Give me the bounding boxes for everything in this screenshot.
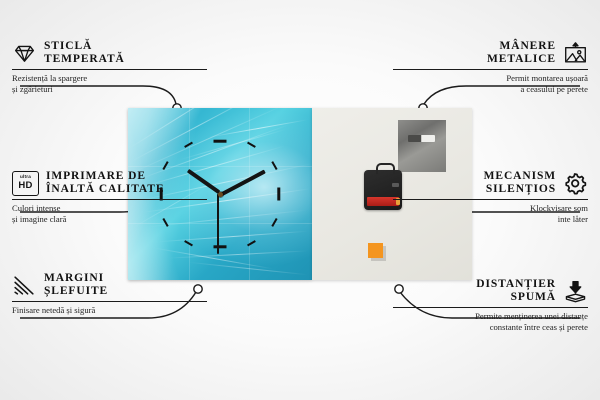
press-down-pad-icon	[563, 279, 588, 304]
metal-hanger-plate	[398, 120, 446, 172]
clock-tick-minor	[162, 161, 168, 170]
feature-foam-spacer: DISTANȚIER SPUMĂ Permite menținerea unei…	[393, 278, 588, 332]
divider	[393, 69, 588, 70]
clock-tick-major	[214, 140, 227, 143]
feature-desc-2: inte låter	[393, 214, 588, 225]
hanger-slot	[408, 135, 435, 142]
feature-title: MARGINI	[44, 272, 108, 285]
feature-desc-2: a ceasului pe perete	[393, 84, 588, 95]
clock-center-cap	[218, 192, 223, 197]
feature-title-2: TEMPERATĂ	[44, 53, 125, 66]
feature-desc: Permite menținerea unei distanțe	[393, 311, 588, 322]
feature-desc: Rezistență la spargere	[12, 73, 207, 84]
diamond-icon	[12, 41, 37, 66]
gear-icon	[563, 171, 588, 196]
clock-tick-minor	[247, 240, 256, 246]
clock-tick-minor	[184, 240, 193, 246]
clock-tick-minor	[247, 142, 256, 148]
clock-tick-minor	[272, 218, 278, 227]
feature-desc: Permit montarea ușoară	[393, 73, 588, 84]
feature-title-2: ȘLEFUITE	[44, 285, 108, 298]
divider	[12, 69, 207, 70]
feature-metal-hooks: MÂNERE METALICE Permit montarea ușoară a…	[393, 40, 588, 94]
clock-tick-major	[278, 188, 281, 201]
feature-desc: Culori intense	[12, 203, 207, 214]
feature-title-2: METALICE	[487, 53, 556, 66]
feature-tempered-glass: STICLĂ TEMPERATĂ Rezistență la spargere …	[12, 40, 207, 94]
foam-spacer-pad	[368, 243, 383, 258]
feature-desc-2: și imagine clară	[12, 214, 207, 225]
ultra-hd-main-label: HD	[18, 181, 32, 191]
feature-silent-mechanism: MECANISM SILENȚIOS Klockvisare som inte …	[393, 170, 588, 224]
feature-title-2: ÎNALTĂ CALITATE	[46, 183, 164, 196]
feature-title-2: SPUMĂ	[476, 291, 556, 304]
feature-title: STICLĂ	[44, 40, 125, 53]
feature-title: DISTANȚIER	[476, 278, 556, 291]
picture-hanger-icon	[563, 41, 588, 66]
clock-second-hand	[218, 194, 220, 254]
clock-tick-minor	[184, 142, 193, 148]
feature-title: MÂNERE	[487, 40, 556, 53]
feature-desc-2: și zgârieturi	[12, 84, 207, 95]
feature-title-2: SILENȚIOS	[484, 183, 556, 196]
hatch-lines-icon	[12, 273, 37, 298]
clock-minute-hand	[218, 170, 266, 198]
feature-desc: Klockvisare som	[393, 203, 588, 214]
feature-title: IMPRIMARE DE	[46, 170, 164, 183]
feature-desc-2: constante între ceas și perete	[393, 322, 588, 333]
divider	[12, 301, 207, 302]
ultra-hd-icon: ultra HD	[12, 171, 39, 196]
feature-title: MECANISM	[484, 170, 556, 183]
divider	[393, 199, 588, 200]
divider	[393, 307, 588, 308]
feature-polished-edges: MARGINI ȘLEFUITE Finisare netedă și sigu…	[12, 272, 207, 316]
feature-high-quality-print: ultra HD IMPRIMARE DE ÎNALTĂ CALITATE Cu…	[12, 170, 207, 224]
feature-desc: Finisare netedă și sigură	[12, 305, 207, 316]
divider	[12, 199, 207, 200]
clock-tick-major	[214, 246, 227, 249]
infographic-canvas: STICLĂ TEMPERATĂ Rezistență la spargere …	[0, 0, 600, 400]
clock-tick-minor	[272, 161, 278, 170]
